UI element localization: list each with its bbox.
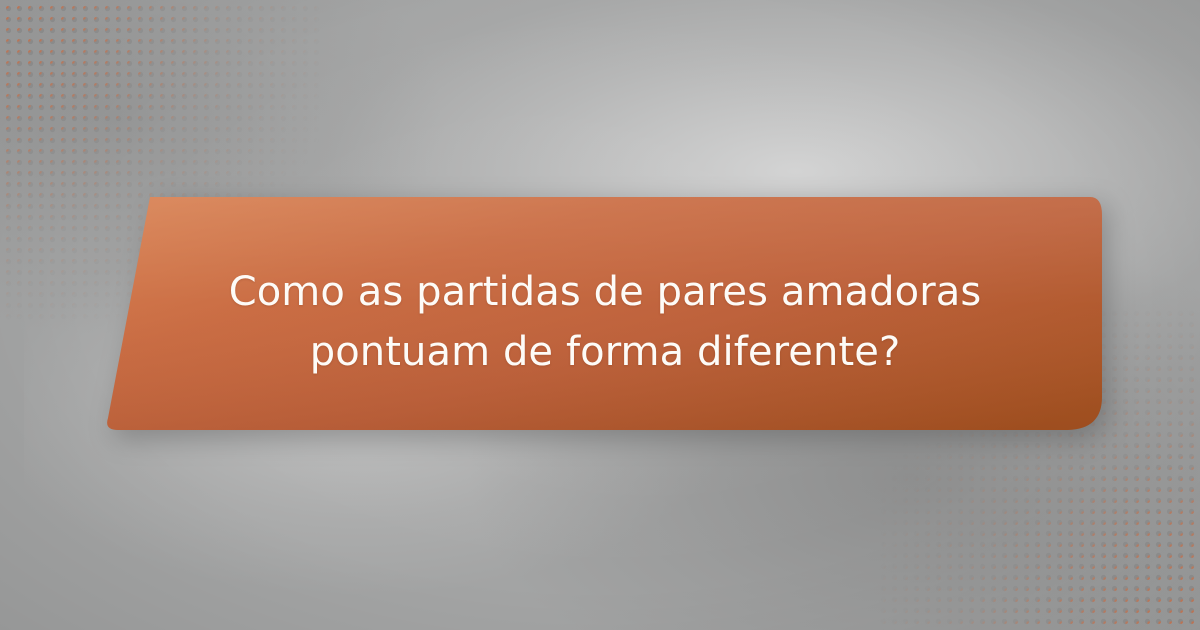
card-text-block: Como as partidas de pares amadoras pontu…: [90, 185, 1120, 450]
poster-canvas: Como as partidas de pares amadoras pontu…: [0, 0, 1200, 630]
headline-card: Como as partidas de pares amadoras pontu…: [90, 185, 1120, 450]
page-title: Como as partidas de pares amadoras pontu…: [225, 263, 985, 381]
